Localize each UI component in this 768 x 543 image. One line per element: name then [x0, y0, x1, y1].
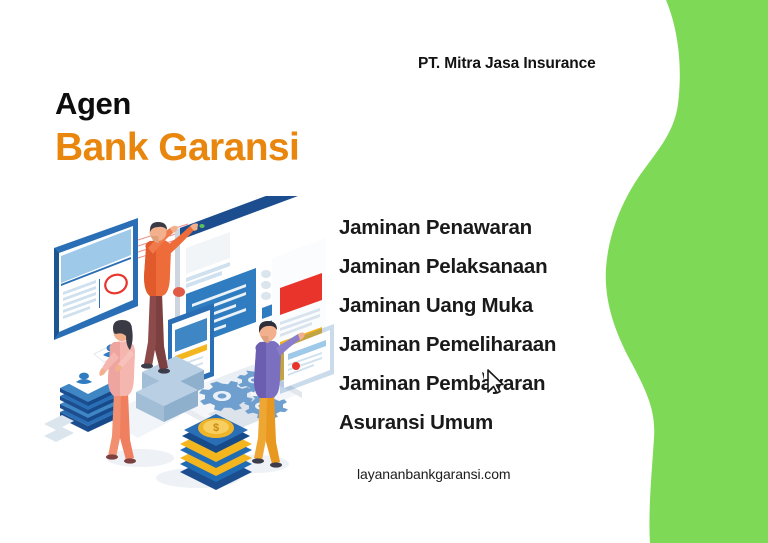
list-item: Jaminan Pembayaran — [339, 364, 556, 403]
headline-kicker: Agen — [55, 86, 131, 122]
list-item: Jaminan Penawaran — [339, 208, 556, 247]
green-wave-decoration — [588, 0, 768, 543]
list-item: Jaminan Pelaksanaan — [339, 247, 556, 286]
page-title: Bank Garansi — [55, 126, 299, 170]
service-list: Jaminan Penawaran Jaminan Pelaksanaan Ja… — [339, 208, 556, 442]
list-item: Jaminan Pemeliharaan — [339, 325, 556, 364]
card-stack — [44, 366, 118, 442]
list-item: Jaminan Uang Muka — [339, 286, 556, 325]
isometric-team-illustration: $ — [40, 196, 340, 492]
svg-text:$: $ — [213, 422, 219, 434]
company-name: PT. Mitra Jasa Insurance — [418, 55, 596, 73]
website-url: layananbankgaransi.com — [357, 466, 510, 482]
list-item: Asuransi Umum — [339, 403, 556, 442]
poster-canvas: PT. Mitra Jasa Insurance Agen Bank Garan… — [0, 0, 768, 543]
